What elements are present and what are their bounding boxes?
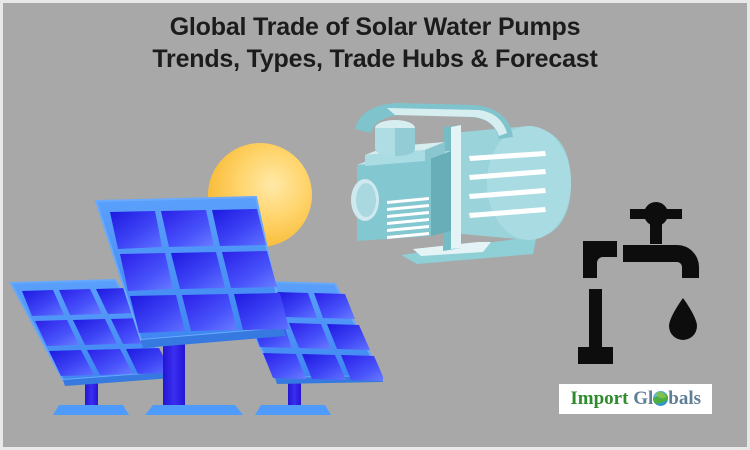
- solar-panel-illustration: [3, 188, 383, 428]
- title-line-1: Global Trade of Solar Water Pumps: [3, 11, 747, 43]
- page-title: Global Trade of Solar Water Pumps Trends…: [3, 11, 747, 75]
- globe-icon: [653, 391, 668, 406]
- title-line-2: Trends, Types, Trade Hubs & Forecast: [3, 43, 747, 75]
- faucet-illustration: [565, 195, 715, 375]
- logo-text-gl: Gl: [633, 388, 653, 409]
- banner-graphic: Global Trade of Solar Water Pumps Trends…: [0, 0, 750, 450]
- logo-text-import: Import: [570, 388, 628, 409]
- logo-text-bals: bals: [668, 388, 701, 409]
- import-globals-logo[interactable]: Import Glbals: [559, 384, 712, 414]
- logo-text: Import Glbals: [570, 389, 701, 408]
